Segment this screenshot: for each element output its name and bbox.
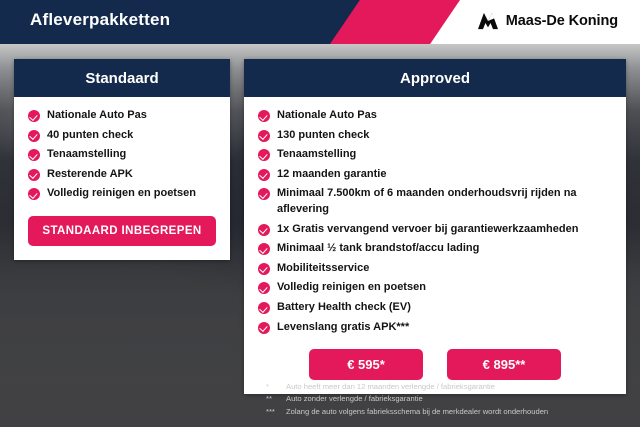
check-circle-icon [258, 110, 270, 122]
list-item: Volledig reinigen en poetsen [28, 186, 216, 202]
approved-card: Approved Nationale Auto Pas 130 punten c… [244, 59, 626, 394]
footnote-text: Auto heeft meer dan 12 maanden verlengde… [286, 381, 495, 393]
footnote-item: ** Auto zonder verlengde / fabrieksgaran… [266, 393, 626, 405]
check-circle-icon [258, 224, 270, 236]
feature-label: Volledig reinigen en poetsen [277, 280, 426, 296]
check-circle-icon [28, 188, 40, 200]
footnote-text: Zolang de auto volgens fabrieksschema bi… [286, 406, 548, 418]
list-item: Minimaal 7.500km of 6 maanden onderhouds… [258, 186, 612, 217]
check-circle-icon [258, 243, 270, 255]
check-circle-icon [28, 110, 40, 122]
check-circle-icon [28, 149, 40, 161]
feature-label: Nationale Auto Pas [277, 108, 377, 124]
approved-card-title: Approved [244, 59, 626, 97]
feature-label: Battery Health check (EV) [277, 300, 411, 316]
check-circle-icon [258, 188, 270, 200]
list-item: 130 punten check [258, 128, 612, 144]
page-title: Afleverpakketten [30, 10, 170, 30]
list-item: Tenaamstelling [28, 147, 216, 163]
feature-label: Tenaamstelling [47, 147, 126, 163]
list-item: Nationale Auto Pas [258, 108, 612, 124]
feature-label: Tenaamstelling [277, 147, 356, 163]
list-item: Minimaal ½ tank brandstof/accu lading [258, 241, 612, 257]
feature-label: Volledig reinigen en poetsen [47, 186, 196, 202]
list-item: Volledig reinigen en poetsen [258, 280, 612, 296]
check-circle-icon [258, 130, 270, 142]
footnote-marker: ** [266, 393, 280, 405]
list-item: Tenaamstelling [258, 147, 612, 163]
feature-label: Resterende APK [47, 167, 133, 183]
feature-label: Minimaal 7.500km of 6 maanden onderhouds… [277, 186, 612, 217]
feature-label: 40 punten check [47, 128, 133, 144]
footnote-marker: * [266, 381, 280, 393]
feature-label: Nationale Auto Pas [47, 108, 147, 124]
feature-label: Mobiliteitsservice [277, 261, 369, 277]
standaard-card: Standaard Nationale Auto Pas 40 punten c… [14, 59, 230, 260]
feature-label: 12 maanden garantie [277, 167, 386, 183]
standaard-feature-list: Nationale Auto Pas 40 punten check Tenaa… [28, 108, 216, 202]
feature-label: 1x Gratis vervangend vervoer bij garanti… [277, 222, 578, 238]
standaard-inbegrepen-button[interactable]: STANDAARD INBEGREPEN [28, 216, 216, 246]
feature-label: 130 punten check [277, 128, 369, 144]
list-item: Resterende APK [28, 167, 216, 183]
footnote-text: Auto zonder verlengde / fabrieksgarantie [286, 393, 423, 405]
afleverpakketten-page: Afleverpakketten Maas-De Koning Standaar… [0, 0, 640, 427]
price-button-row: € 595* € 895** [258, 349, 612, 380]
list-item: Battery Health check (EV) [258, 300, 612, 316]
list-item: 1x Gratis vervangend vervoer bij garanti… [258, 222, 612, 238]
check-circle-icon [258, 263, 270, 275]
check-circle-icon [258, 302, 270, 314]
approved-card-body: Nationale Auto Pas 130 punten check Tena… [244, 97, 626, 394]
list-item: Levenslang gratis APK*** [258, 320, 612, 336]
brand-name: Maas-De Koning [506, 13, 618, 29]
standaard-card-title: Standaard [14, 59, 230, 97]
standaard-card-body: Nationale Auto Pas 40 punten check Tenaa… [14, 97, 230, 260]
check-circle-icon [258, 322, 270, 334]
check-circle-icon [258, 149, 270, 161]
maas-de-koning-m-logo-icon [477, 11, 499, 31]
feature-label: Minimaal ½ tank brandstof/accu lading [277, 241, 479, 257]
list-item: Mobiliteitsservice [258, 261, 612, 277]
check-circle-icon [28, 130, 40, 142]
footnote-item: * Auto heeft meer dan 12 maanden verleng… [266, 381, 626, 393]
brand-logo: Maas-De Koning [477, 11, 618, 31]
approved-feature-list: Nationale Auto Pas 130 punten check Tena… [258, 108, 612, 335]
check-circle-icon [28, 169, 40, 181]
footnotes-block: * Auto heeft meer dan 12 maanden verleng… [266, 381, 626, 418]
top-brand-bar: Afleverpakketten Maas-De Koning [0, 0, 640, 44]
footnote-item: *** Zolang de auto volgens fabrieksschem… [266, 406, 626, 418]
list-item: Nationale Auto Pas [28, 108, 216, 124]
check-circle-icon [258, 169, 270, 181]
list-item: 40 punten check [28, 128, 216, 144]
footnote-marker: *** [266, 406, 280, 418]
feature-label: Levenslang gratis APK*** [277, 320, 409, 336]
price-button-895[interactable]: € 895** [447, 349, 561, 380]
price-button-595[interactable]: € 595* [309, 349, 423, 380]
check-circle-icon [258, 282, 270, 294]
list-item: 12 maanden garantie [258, 167, 612, 183]
